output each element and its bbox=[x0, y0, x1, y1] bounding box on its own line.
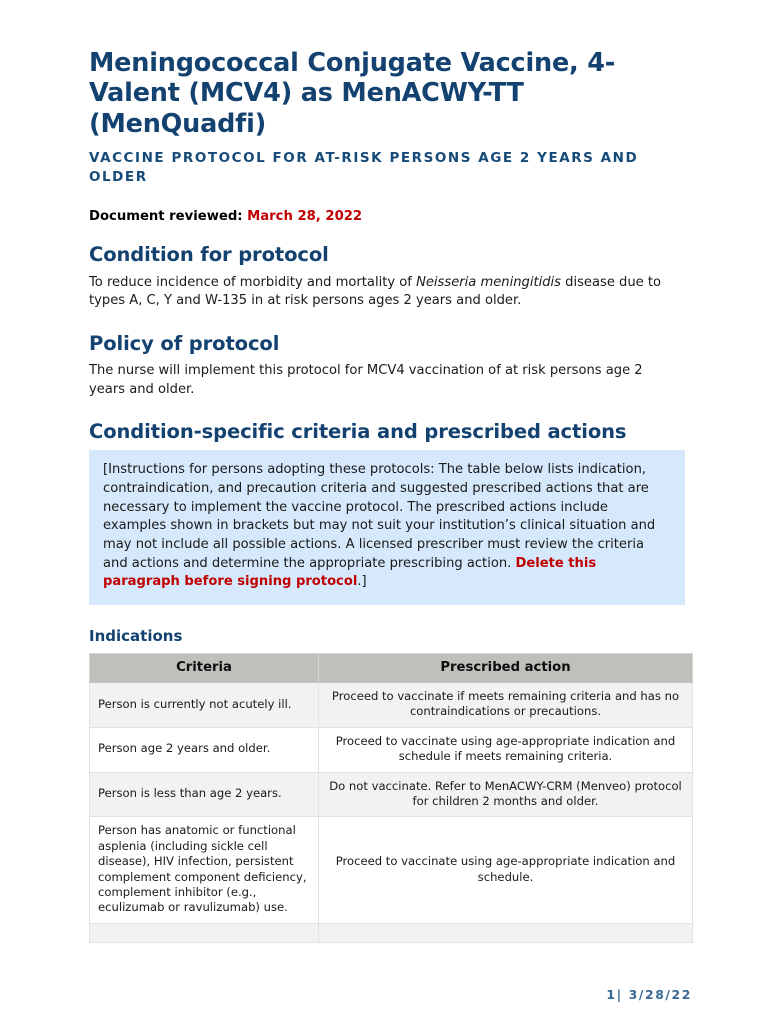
column-header-criteria: Criteria bbox=[90, 653, 319, 682]
cell-prescribed-action bbox=[319, 923, 693, 942]
table-row-empty bbox=[90, 923, 693, 942]
indications-table: Criteria Prescribed action Person is cur… bbox=[89, 653, 693, 943]
table-row: Person is less than age 2 years. Do not … bbox=[90, 772, 693, 817]
table-row: Person age 2 years and older. Proceed to… bbox=[90, 727, 693, 772]
cell-criteria: Person is less than age 2 years. bbox=[90, 772, 319, 817]
document-subtitle: VACCINE PROTOCOL FOR AT-RISK PERSONS AGE… bbox=[89, 149, 689, 187]
cell-criteria: Person age 2 years and older. bbox=[90, 727, 319, 772]
condition-heading: Condition for protocol bbox=[89, 244, 649, 266]
instructions-callout: [Instructions for persons adopting these… bbox=[89, 450, 685, 605]
cell-prescribed-action: Proceed to vaccinate if meets remaining … bbox=[319, 682, 693, 727]
criteria-actions-heading: Condition-specific criteria and prescrib… bbox=[89, 421, 649, 443]
instructions-text: [Instructions for persons adopting these… bbox=[103, 461, 671, 592]
document-page: Meningococcal Conjugate Vaccine, 4-Valen… bbox=[0, 0, 770, 1024]
cell-prescribed-action: Proceed to vaccinate using age-appropria… bbox=[319, 727, 693, 772]
cell-criteria: Person has anatomic or functional asplen… bbox=[90, 817, 319, 923]
table-row: Person has anatomic or functional asplen… bbox=[90, 817, 693, 923]
instructions-text-part2: .] bbox=[357, 574, 366, 589]
policy-heading: Policy of protocol bbox=[89, 333, 649, 355]
reviewed-label: Document reviewed: bbox=[89, 209, 243, 224]
instructions-text-part1: [Instructions for persons adopting these… bbox=[103, 462, 655, 570]
condition-body: To reduce incidence of morbidity and mor… bbox=[89, 274, 669, 311]
reviewed-date: March 28, 2022 bbox=[247, 209, 362, 224]
indications-heading: Indications bbox=[89, 627, 692, 645]
document-reviewed-line: Document reviewed: March 28, 2022 bbox=[89, 209, 692, 224]
indications-table-body: Person is currently not acutely ill. Pro… bbox=[90, 682, 693, 942]
condition-body-italic: Neisseria meningitidis bbox=[416, 275, 561, 290]
cell-prescribed-action: Do not vaccinate. Refer to MenACWY-CRM (… bbox=[319, 772, 693, 817]
page-footer: 1| 3/28/22 bbox=[606, 987, 692, 1002]
indications-table-head: Criteria Prescribed action bbox=[90, 653, 693, 682]
policy-body: The nurse will implement this protocol f… bbox=[89, 362, 669, 399]
cell-criteria bbox=[90, 923, 319, 942]
condition-body-prefix: To reduce incidence of morbidity and mor… bbox=[89, 275, 416, 290]
table-row: Person is currently not acutely ill. Pro… bbox=[90, 682, 693, 727]
cell-criteria: Person is currently not acutely ill. bbox=[90, 682, 319, 727]
column-header-prescribed-action: Prescribed action bbox=[319, 653, 693, 682]
document-title: Meningococcal Conjugate Vaccine, 4-Valen… bbox=[89, 48, 681, 139]
cell-prescribed-action: Proceed to vaccinate using age-appropria… bbox=[319, 817, 693, 923]
table-header-row: Criteria Prescribed action bbox=[90, 653, 693, 682]
